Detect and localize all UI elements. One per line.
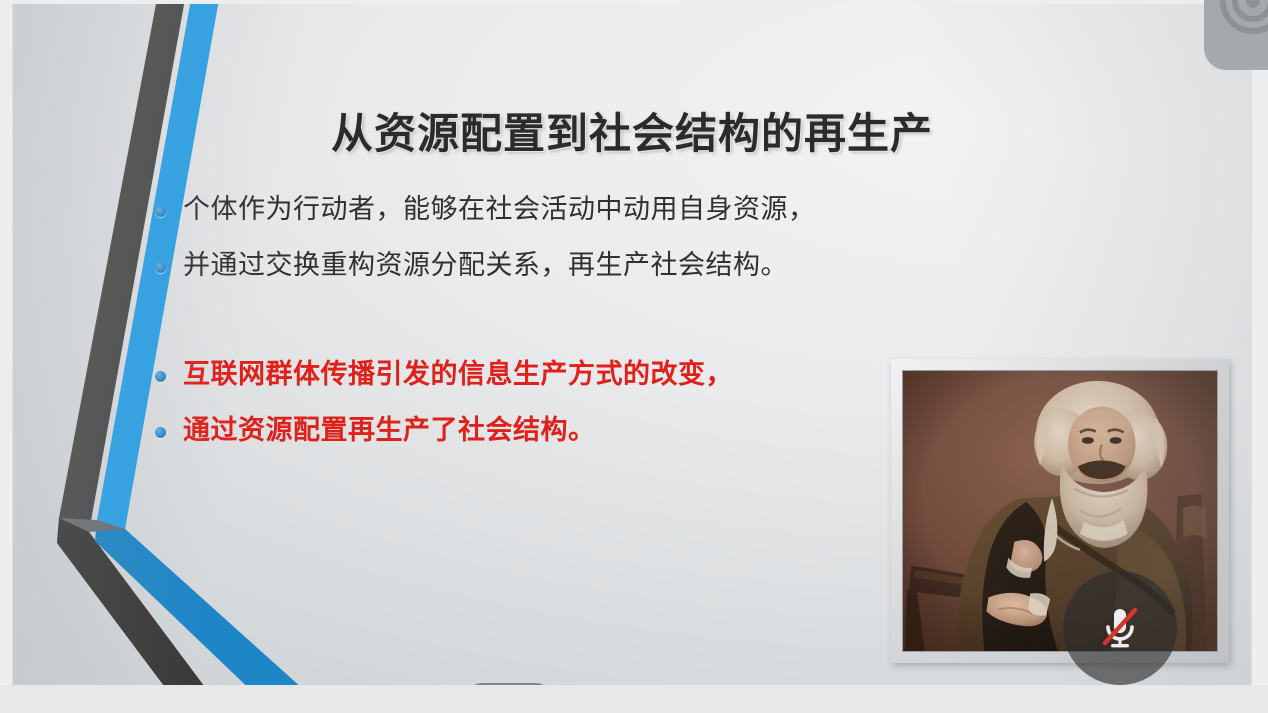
- slide-bullet-list: 个体作为行动者，能够在社会活动中动用自身资源， 并通过交换重构资源分配关系，再生…: [155, 192, 955, 469]
- bullet-text: 并通过交换重构资源分配关系，再生产社会结构。: [183, 248, 788, 284]
- list-item: 互联网群体传播引发的信息生产方式的改变，: [155, 357, 955, 393]
- bullet-text: 互联网群体传播引发的信息生产方式的改变，: [183, 357, 733, 393]
- portrait-frame: [891, 359, 1229, 663]
- bullet-dot-icon: [155, 262, 166, 273]
- bullet-dot-icon: [155, 427, 166, 438]
- bullet-dot-icon: [155, 371, 166, 382]
- list-item: 个体作为行动者，能够在社会活动中动用自身资源，: [155, 192, 955, 228]
- list-item: 通过资源配置再生产了社会结构。: [155, 413, 955, 449]
- chevron-dark-band-shade: [57, 518, 213, 685]
- microphone-muted-icon[interactable]: [1063, 571, 1177, 685]
- slide-canvas[interactable]: 从资源配置到社会结构的再生产 个体作为行动者，能够在社会活动中动用自身资源， 并…: [12, 4, 1252, 685]
- viewer-bottom-strip: [0, 685, 1268, 713]
- chevron-vertex-highlight: [59, 518, 125, 532]
- bullet-text: 个体作为行动者，能够在社会活动中动用自身资源，: [183, 192, 816, 228]
- slide-title: 从资源配置到社会结构的再生产: [13, 100, 1251, 161]
- bullet-text: 通过资源配置再生产了社会结构。: [183, 413, 596, 449]
- bullet-dot-icon: [155, 206, 166, 217]
- list-item: 并通过交换重构资源分配关系，再生产社会结构。: [155, 248, 955, 284]
- speaker-rings-icon[interactable]: [1204, 0, 1268, 70]
- chevron-blue-band-shade: [95, 520, 313, 685]
- presentation-viewer: 从资源配置到社会结构的再生产 个体作为行动者，能够在社会活动中动用自身资源， 并…: [0, 0, 1268, 713]
